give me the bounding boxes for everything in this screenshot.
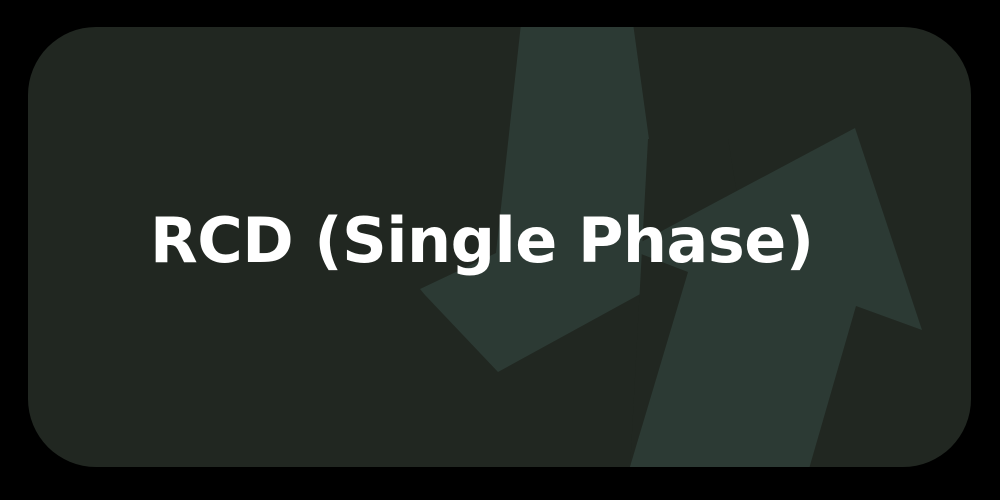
page-title: RCD (Single Phase): [150, 210, 814, 272]
screenshot-canvas: RCD (Single Phase): [0, 0, 1000, 500]
rcd-single-phase-card[interactable]: RCD (Single Phase): [28, 27, 971, 467]
card-title-layer: RCD (Single Phase): [28, 27, 971, 467]
